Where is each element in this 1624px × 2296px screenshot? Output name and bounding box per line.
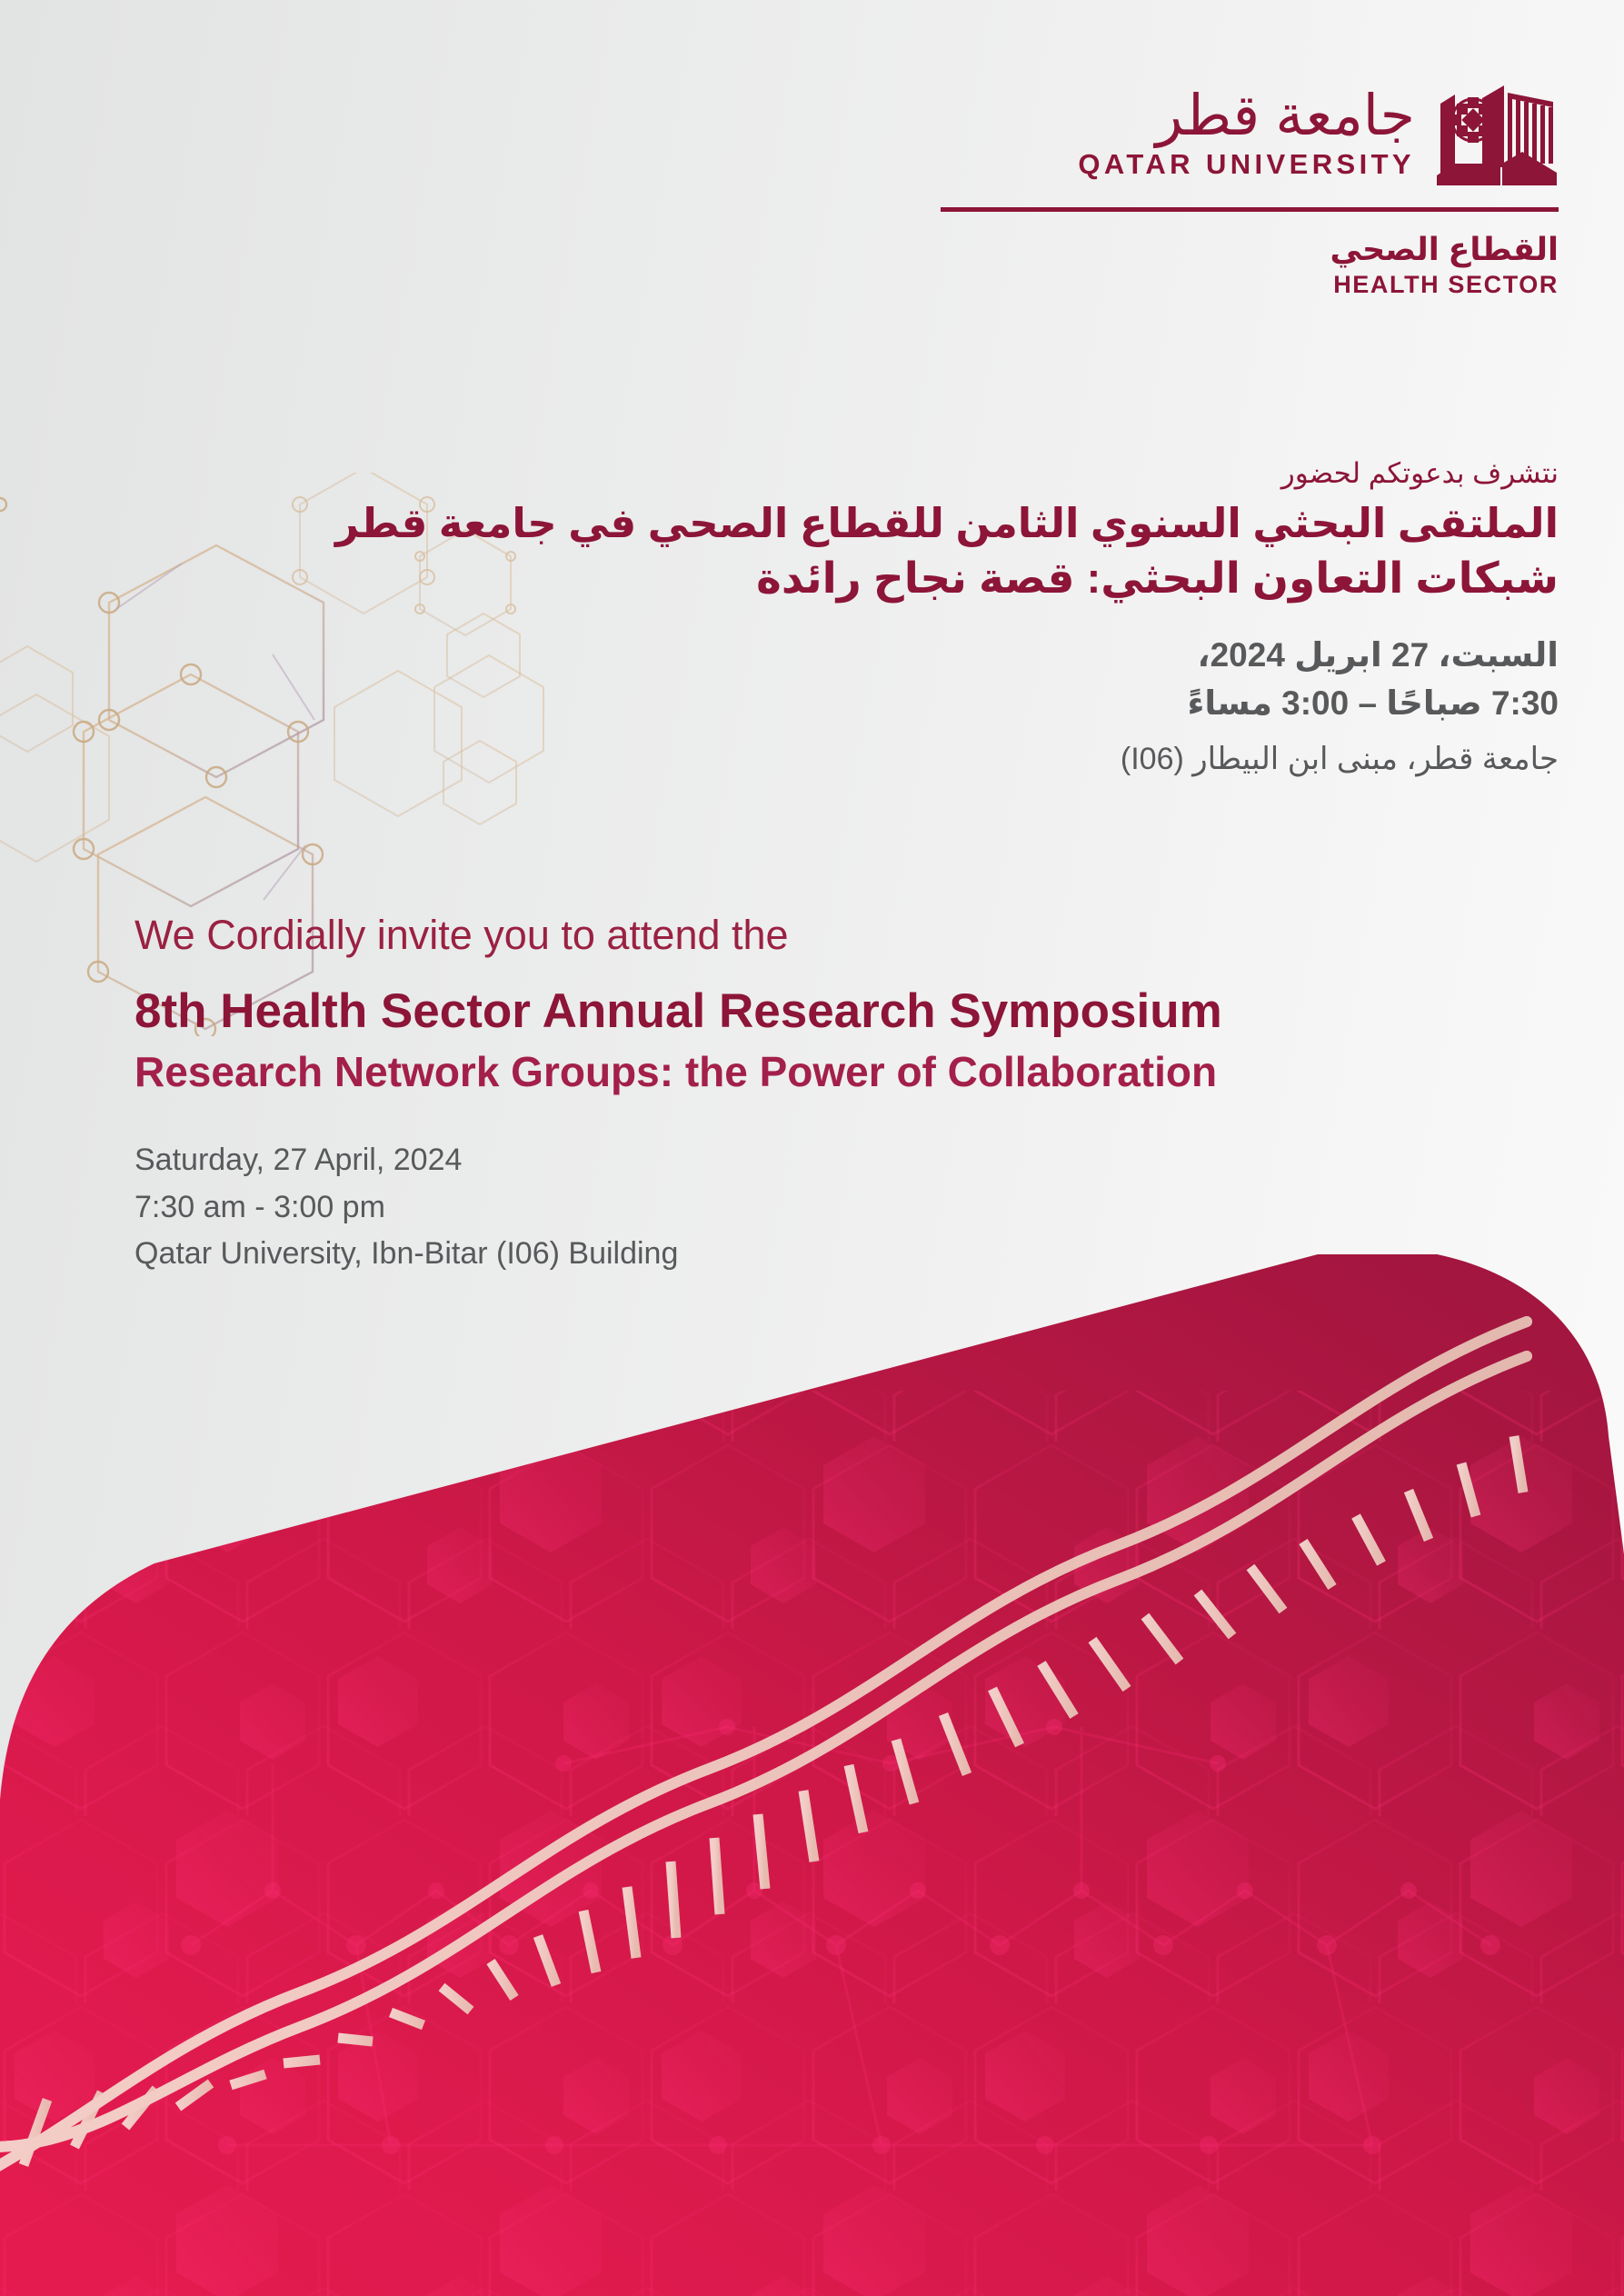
- arabic-date: السبت، 27 ابريل 2024،: [377, 632, 1559, 680]
- crimson-graphic-panel: [0, 1254, 1624, 2296]
- english-lead-text: We Cordially invite you to attend the: [135, 909, 1552, 963]
- logo-wordmark: جامعة قطر QATAR UNIVERSITY: [1078, 84, 1415, 181]
- qatar-university-emblem-icon: [1435, 84, 1559, 191]
- health-sector-english: HEALTH SECTOR: [941, 270, 1559, 299]
- arabic-event-meta: السبت، 27 ابريل 2024، 7:30 صباحًا – 3:00…: [377, 632, 1559, 727]
- arabic-lead-text: نتشرف بدعوتكم لحضور: [377, 454, 1559, 493]
- english-title: 8th Health Sector Annual Research Sympos…: [135, 983, 1552, 1042]
- logo-english-name: QATAR UNIVERSITY: [1078, 148, 1415, 181]
- arabic-venue: جامعة قطر، مبنى ابن البيطار (I06): [377, 738, 1559, 782]
- english-subtitle: Research Network Groups: the Power of Co…: [135, 1046, 1552, 1099]
- english-time: 7:30 am - 3:00 pm: [135, 1184, 1552, 1232]
- arabic-invitation-block: نتشرف بدعوتكم لحضور الملتقى البحثي السنو…: [377, 454, 1559, 782]
- arabic-time: 7:30 صباحًا – 3:00 مساءً: [377, 680, 1559, 728]
- logo-divider-rule: [941, 207, 1559, 212]
- arabic-subtitle: شبكات التعاون البحثي: قصة نجاح رائدة: [377, 550, 1559, 606]
- arabic-title: الملتقى البحثي السنوي الثامن للقطاع الصح…: [377, 496, 1559, 550]
- invitation-poster: جامعة قطر QATAR UNIVERSITY: [0, 0, 1624, 2296]
- health-sector-block: القطاع الصحي HEALTH SECTOR: [941, 232, 1559, 300]
- logo-arabic-name: جامعة قطر: [1155, 89, 1415, 145]
- qatar-university-logo-block: جامعة قطر QATAR UNIVERSITY: [941, 84, 1559, 300]
- logo-row: جامعة قطر QATAR UNIVERSITY: [941, 84, 1559, 191]
- english-invitation-block: We Cordially invite you to attend the 8t…: [135, 909, 1552, 1278]
- english-date: Saturday, 27 April, 2024: [135, 1137, 1552, 1184]
- health-sector-arabic: القطاع الصحي: [941, 232, 1559, 268]
